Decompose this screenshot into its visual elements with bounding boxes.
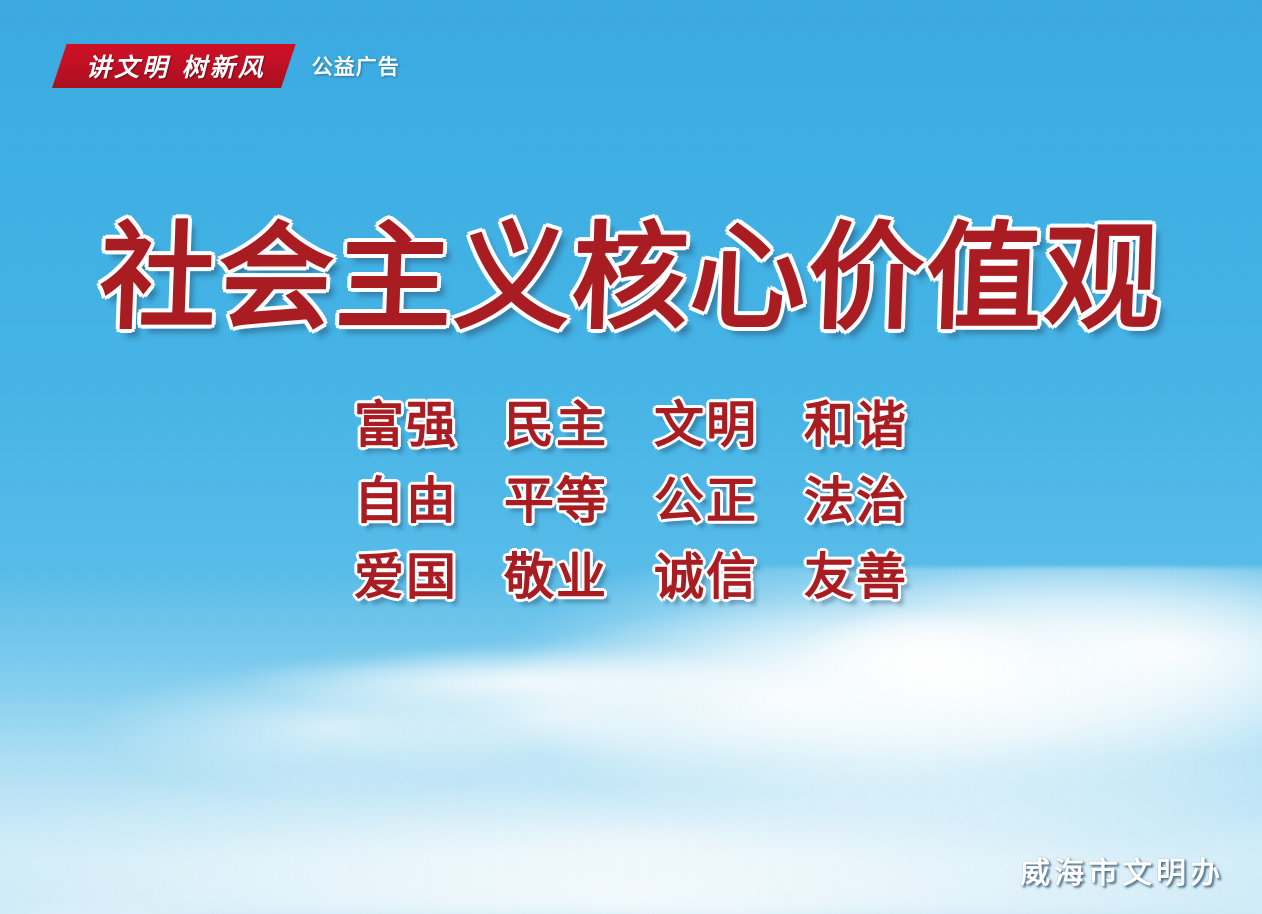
core-value-word: 自由 (354, 474, 458, 528)
headline-text: 社会主义核心价值观 (98, 212, 1165, 345)
core-value-word: 富强 (354, 398, 458, 452)
cloud-wisp-left-icon (151, 640, 883, 722)
core-value-word: 敬业 (504, 550, 608, 604)
core-value-word: 民主 (504, 398, 608, 452)
core-value-word: 公正 (654, 474, 758, 528)
core-values-row: 富强 民主 文明 和谐 (331, 398, 931, 452)
core-value-word: 和谐 (804, 398, 908, 452)
core-value-word: 文明 (654, 398, 758, 452)
campaign-banner: 讲文明 树新风 公益广告 (52, 44, 400, 88)
campaign-ribbon-shape: 讲文明 树新风 (52, 44, 296, 88)
core-value-word: 友善 (804, 550, 908, 604)
footer-attribution: 威海市文明办 (1020, 848, 1224, 892)
campaign-tagline-label: 公益广告 (312, 51, 400, 81)
core-value-word: 诚信 (654, 550, 758, 604)
campaign-ribbon-label: 讲文明 树新风 (86, 48, 266, 84)
core-value-word: 爱国 (354, 550, 458, 604)
cloud-wisp-right-icon (757, 603, 1136, 740)
core-values-row: 爱国 敬业 诚信 友善 (331, 550, 931, 604)
public-service-poster: 讲文明 树新风 公益广告 社会主义核心价值观 富强 民主 文明 和谐 自由 平等… (0, 0, 1262, 914)
core-value-word: 平等 (504, 474, 608, 528)
core-value-word: 法治 (804, 474, 908, 528)
headline: 社会主义核心价值观 (0, 212, 1262, 345)
core-values-row: 自由 平等 公正 法治 (331, 474, 931, 528)
core-values-grid: 富强 民主 文明 和谐 自由 平等 公正 法治 爱国 敬业 诚信 友善 (0, 398, 1262, 604)
